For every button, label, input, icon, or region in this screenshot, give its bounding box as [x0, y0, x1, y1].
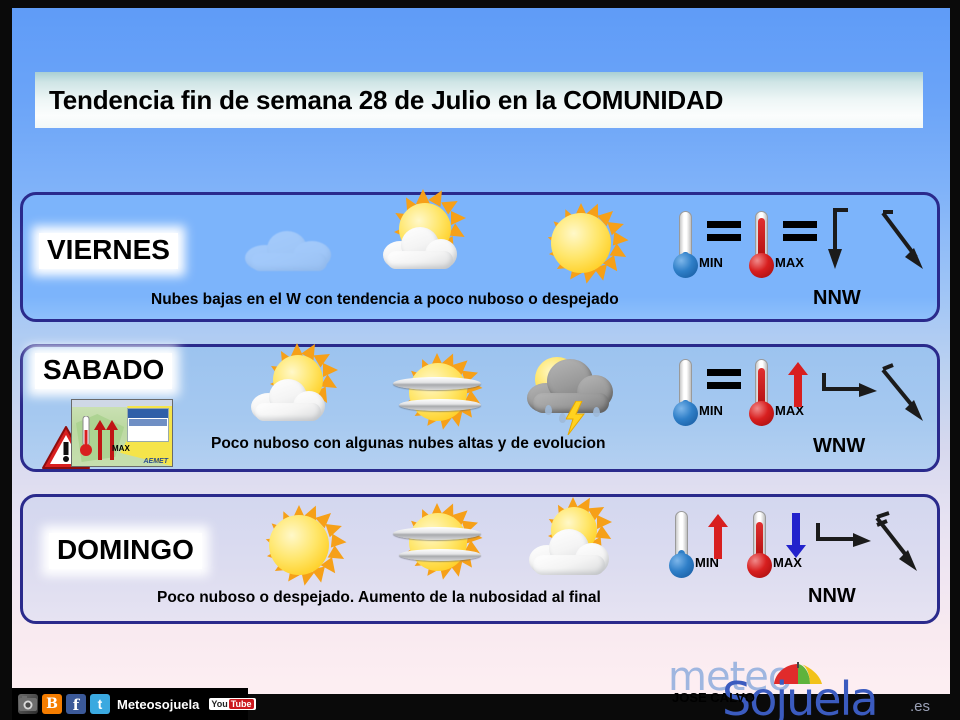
sun-icon [533, 205, 633, 291]
weather-forecast-slide: Tendencia fin de semana 28 de Julio en l… [0, 0, 960, 720]
social-bar: B f t Meteosojuela You Tube [12, 688, 248, 720]
sun-behind-high-clouds-icon [391, 355, 491, 441]
title-bar: Tendencia fin de semana 28 de Julio en l… [35, 72, 923, 128]
social-handle: Meteosojuela [117, 697, 199, 712]
sun-behind-cloud-icon [529, 507, 629, 593]
thermometer-max-label: MAX [775, 255, 804, 270]
trend-steady-icon [783, 221, 817, 247]
map-up-arrows-icon [94, 416, 120, 460]
page-title: Tendencia fin de semana 28 de Julio en l… [49, 85, 723, 116]
wind-arrows-sabado [819, 361, 929, 427]
sun-behind-high-clouds-icon [391, 505, 491, 591]
top-rail [0, 0, 960, 8]
facebook-icon[interactable]: f [66, 694, 86, 714]
meteosojuela-logo[interactable]: meteo Sojuela .es [668, 654, 948, 714]
day-label-viernes: VIERNES [39, 233, 178, 269]
day-description-viernes: Nubes bajas en el W con tendencia a poco… [151, 291, 619, 309]
right-rail [950, 0, 960, 720]
wind-direction-sabado: WNW [813, 435, 865, 458]
map-max-label: MAX [112, 444, 130, 453]
trend-steady-icon [707, 221, 741, 247]
aemet-warning-map-thumbnail: MAX AEMET [71, 399, 173, 467]
wind-arrows-domingo [813, 511, 923, 577]
thermometer-min-label: MIN [699, 255, 723, 270]
thermometer-min-viernes: MIN [671, 211, 755, 289]
sun-behind-cloud-icon [383, 203, 483, 289]
day-label-domingo: DOMINGO [49, 533, 202, 569]
map-legend [127, 408, 169, 442]
trend-rising-icon [787, 361, 809, 407]
logo-text-tld: .es [910, 698, 930, 715]
thermometer-min-sabado: MIN [671, 359, 755, 437]
twitter-icon[interactable]: t [90, 694, 110, 714]
cloud-faint-icon [241, 209, 341, 295]
sun-icon [251, 505, 351, 591]
trend-rising-icon [707, 513, 729, 559]
day-label-sabado: SABADO [35, 353, 172, 389]
map-thermometer-icon [80, 416, 92, 460]
thunderstorm-icon [523, 353, 623, 439]
youtube-you-text: You [211, 699, 227, 709]
wind-arrows-viernes [821, 207, 931, 273]
sun-behind-cloud-icon [251, 355, 351, 441]
thermometer-min-domingo: MIN [667, 511, 751, 589]
day-row-viernes: VIERNES Nubes bajas en el W con tendenci… [20, 192, 940, 322]
blogger-icon[interactable]: B [42, 694, 62, 714]
youtube-icon[interactable]: You Tube [209, 698, 255, 710]
left-rail [0, 0, 12, 720]
thermometer-max-viernes: MAX [747, 211, 831, 289]
day-row-domingo: DOMINGO Poco nuboso o despejado. Aumento… [20, 494, 940, 624]
wind-direction-viernes: NNW [813, 287, 861, 310]
map-source-label: AEMET [144, 458, 169, 465]
lightning-bolt-icon [563, 401, 587, 435]
wind-direction-domingo: NNW [808, 585, 856, 608]
day-row-sabado: SABADO Poco nuboso con algunas nubes alt… [20, 344, 940, 472]
author-name: JOSE CALVO [672, 690, 755, 705]
thermometer-min-label: MIN [699, 403, 723, 418]
youtube-tube-text: Tube [229, 699, 254, 709]
instagram-icon[interactable] [18, 694, 38, 714]
trend-falling-icon [785, 513, 807, 559]
trend-steady-icon [707, 369, 741, 395]
